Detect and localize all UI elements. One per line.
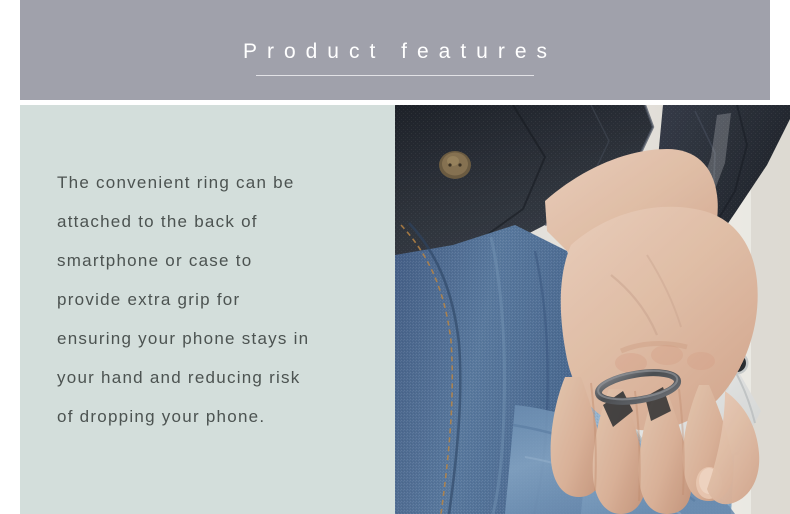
product-features-page: Product features The convenient ring can… (0, 0, 790, 514)
header-inner: Product features (20, 0, 770, 100)
product-photo-illustration (395, 105, 790, 514)
feature-description-text: The convenient ring can be attached to t… (57, 163, 387, 436)
header-banner: Product features (20, 0, 770, 100)
title-underline-divider (256, 75, 534, 76)
content-row: The convenient ring can be attached to t… (20, 105, 790, 514)
page-title: Product features (233, 41, 557, 62)
product-photo (395, 105, 790, 514)
feature-text-panel: The convenient ring can be attached to t… (20, 105, 395, 514)
